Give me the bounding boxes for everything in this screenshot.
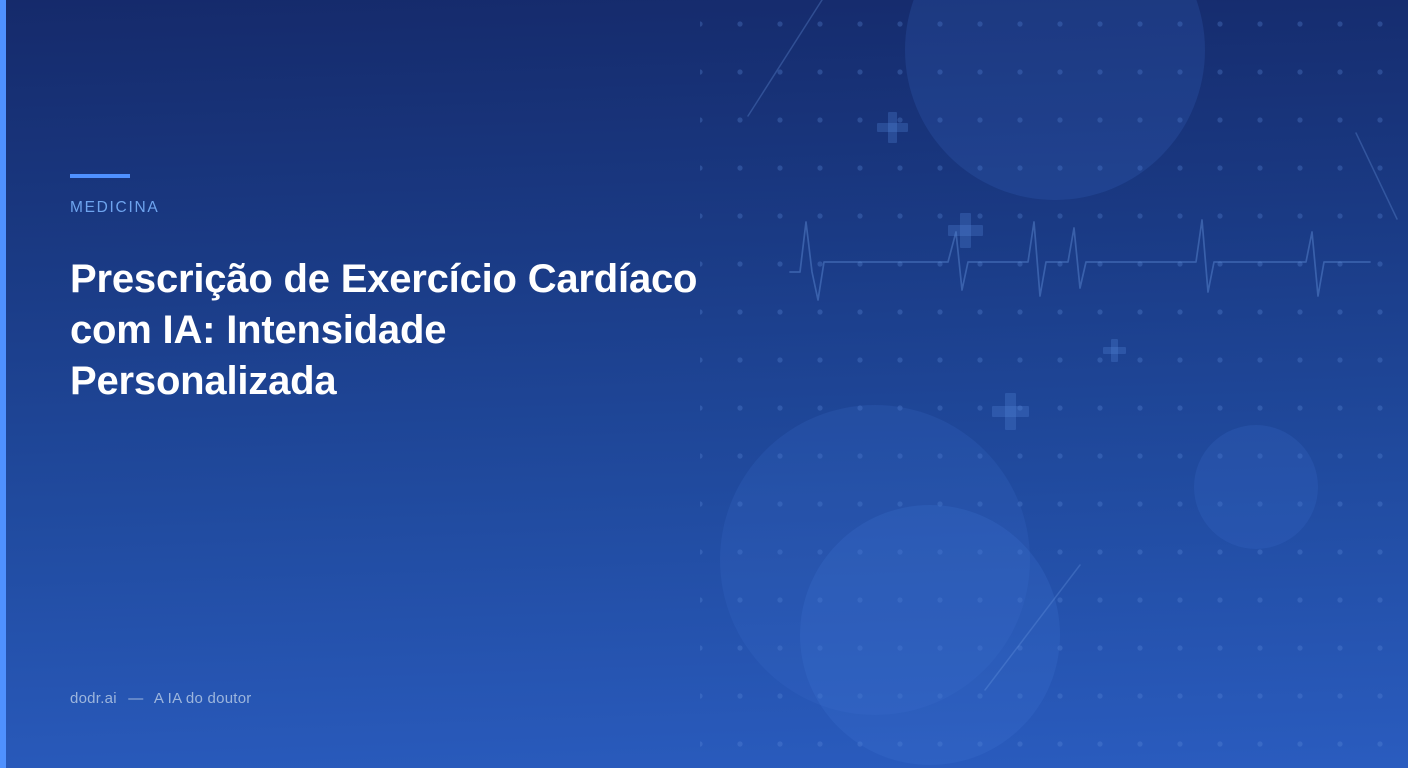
circle-right-small — [1194, 425, 1318, 549]
diagonal-mid — [985, 565, 1080, 690]
category-eyebrow: MEDICINA — [70, 199, 159, 217]
title-line-2: com IA: Intensidade — [70, 305, 770, 356]
title-slide: MEDICINA Prescrição de Exercício Cardíac… — [0, 0, 1408, 768]
accent-rule — [70, 174, 130, 178]
medical-cross-icons — [877, 112, 1126, 430]
circle-bottom-overlap — [800, 505, 1060, 765]
cross-icon-1 — [877, 112, 908, 143]
left-edge-accent-bar — [0, 0, 6, 768]
slide-content: MEDICINA Prescrição de Exercício Cardíac… — [70, 0, 790, 768]
cross-icon-2 — [948, 213, 983, 248]
title-line-3: Personalizada — [70, 356, 770, 407]
slide-footer: dodr.ai — A IA do doutor — [70, 690, 252, 707]
dot-grid-pattern — [700, 0, 1408, 768]
diagonal-right — [1356, 133, 1397, 219]
decorative-circles — [720, 0, 1318, 765]
footer-tagline: A IA do doutor — [154, 690, 252, 707]
footer-brand: dodr.ai — [70, 690, 117, 707]
cross-icon-4 — [992, 393, 1029, 430]
title-line-1: Prescrição de Exercício Cardíaco — [70, 254, 770, 305]
footer-separator: — — [128, 690, 143, 707]
circle-top-right — [905, 0, 1205, 200]
slide-title: Prescrição de Exercício Cardíaco com IA:… — [70, 254, 770, 408]
diagonal-accent-lines — [748, 0, 1397, 690]
ecg-waveform — [790, 220, 1370, 300]
cross-icon-3 — [1103, 339, 1126, 362]
